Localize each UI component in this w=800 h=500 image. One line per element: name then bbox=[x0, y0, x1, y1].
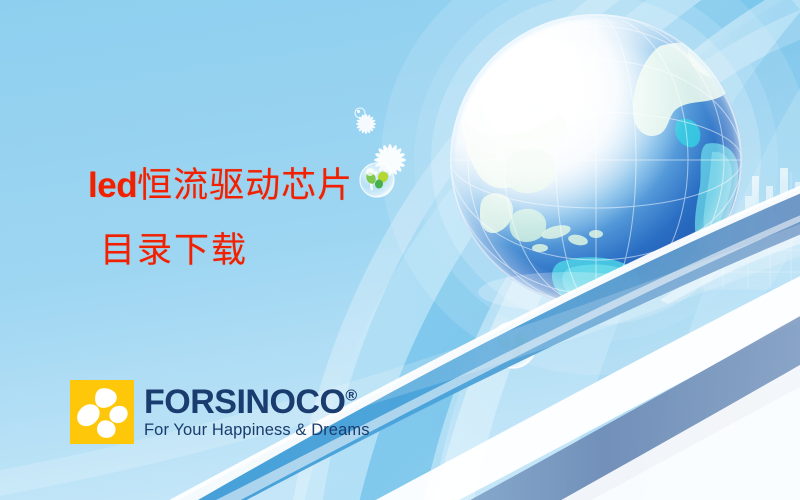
company-logo: FORSINOCO® For Your Happiness & Dreams bbox=[70, 380, 370, 444]
slide-canvas: led恒流驱动芯片 目录下载 FORSINOCO® For Your Happi… bbox=[0, 0, 800, 500]
headline-text: led恒流驱动芯片 目录下载 bbox=[88, 164, 353, 274]
logo-text-block: FORSINOCO® For Your Happiness & Dreams bbox=[144, 384, 370, 439]
logo-wordmark-text: FORSINOCO bbox=[144, 383, 345, 421]
headline-line-2: 目录下载 bbox=[100, 229, 353, 274]
registered-trademark-icon: ® bbox=[345, 388, 357, 405]
headline-latin: led bbox=[88, 166, 137, 205]
flower-sparkle-small bbox=[356, 114, 376, 134]
headline-line-1: led恒流驱动芯片 bbox=[88, 164, 353, 209]
logo-wordmark: FORSINOCO® bbox=[144, 386, 370, 419]
bubble-with-sprout-upper bbox=[360, 163, 394, 197]
logo-tagline: For Your Happiness & Dreams bbox=[144, 421, 370, 440]
four-petal-flower-icon bbox=[70, 380, 134, 444]
logo-mark bbox=[70, 380, 134, 444]
headline-cjk: 恒流驱动芯片 bbox=[137, 166, 353, 206]
